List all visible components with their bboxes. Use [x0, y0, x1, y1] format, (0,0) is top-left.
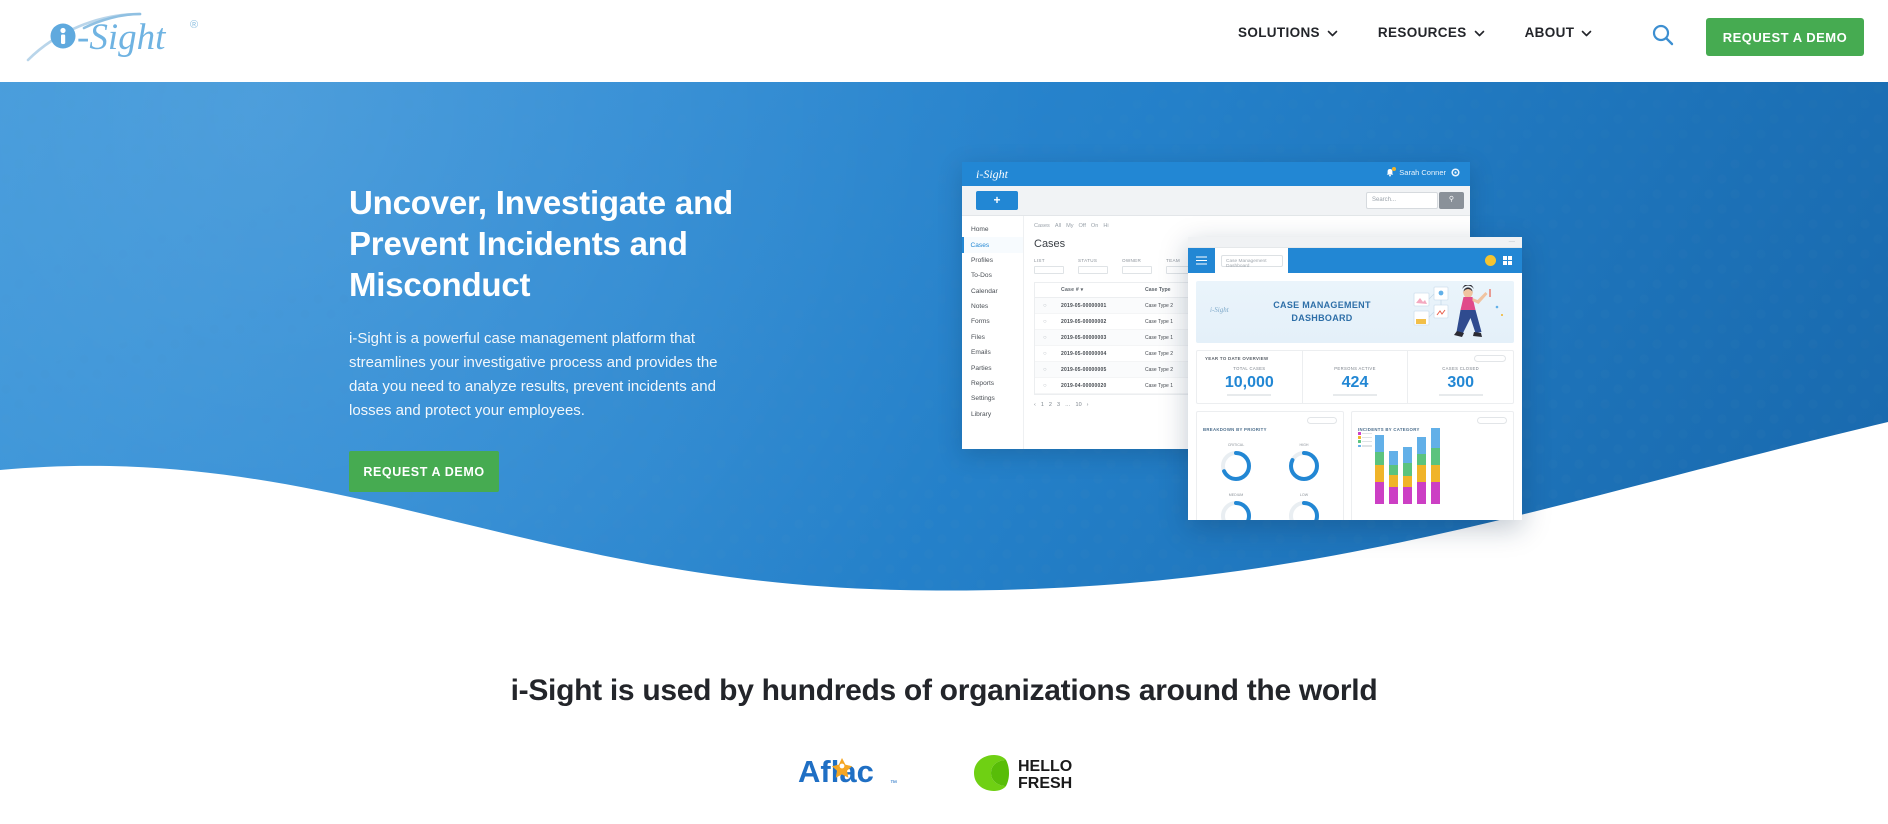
mockup-user-name: Sarah Conner — [1399, 168, 1446, 177]
request-demo-button-hero[interactable]: REQUEST A DEMO — [349, 451, 499, 492]
bar-mar — [1403, 447, 1412, 504]
cell-case-number: 2019-05-00000005 — [1061, 367, 1139, 373]
chevron-down-icon — [1327, 28, 1338, 39]
stat-persons-active: PERSONS ACTIVE 424 — [1303, 351, 1409, 403]
stat-label: CASES CLOSED — [1408, 366, 1513, 371]
request-demo-button-header[interactable]: REQUEST A DEMO — [1706, 18, 1864, 56]
client-logo-row: Aflac ™ HELLO FRESH — [0, 750, 1888, 796]
panel-legend-pill[interactable] — [1307, 417, 1337, 424]
row-checkbox[interactable]: ○ — [1043, 303, 1055, 309]
cell-case-number: 2019-05-00000003 — [1061, 335, 1139, 341]
filter-label: STATUS — [1078, 258, 1108, 263]
mockup-dashboard-topbar: Case Management Dashboard — [1188, 248, 1522, 273]
breadcrumb-item[interactable]: On — [1091, 223, 1098, 229]
sidebar-item-home[interactable]: Home — [962, 222, 1023, 237]
cell-case-number: 2019-05-00000002 — [1061, 319, 1139, 325]
client-logo-hellofresh: HELLO FRESH — [966, 750, 1090, 796]
bar-jan — [1375, 435, 1384, 504]
row-checkbox[interactable]: ○ — [1043, 335, 1055, 341]
sidebar-item-reports[interactable]: Reports — [962, 376, 1023, 391]
mockup-toolbar: + Search... ⚲ — [962, 186, 1470, 216]
stat-value: 10,000 — [1197, 373, 1302, 392]
pagination-page[interactable]: 3 — [1057, 402, 1060, 408]
stacked-bar-chart — [1358, 444, 1507, 504]
donut-critical: CRITICAL — [1203, 443, 1269, 489]
filter-label: OWNER — [1122, 258, 1152, 263]
mockup-sidebar: Home Cases Profiles To-Dos Calendar Note… — [962, 216, 1024, 449]
donut-label: CRITICAL — [1203, 443, 1269, 447]
client-logo-aflac: Aflac ™ — [798, 750, 904, 796]
sidebar-item-cases[interactable]: Cases — [962, 237, 1023, 252]
coin-icon[interactable] — [1485, 255, 1496, 266]
sidebar-item-calendar[interactable]: Calendar — [962, 284, 1023, 299]
i-sight-logo-icon: -Sight ® — [22, 8, 232, 70]
panel-filter-pill[interactable] — [1477, 417, 1507, 424]
donut-chart-icon — [1218, 498, 1254, 520]
breadcrumb-item[interactable]: My — [1066, 223, 1073, 229]
filter-list[interactable]: LIST — [1034, 258, 1064, 274]
hamburger-menu-icon[interactable] — [1188, 248, 1215, 273]
row-checkbox[interactable]: ○ — [1043, 319, 1055, 325]
sidebar-item-library[interactable]: Library — [962, 407, 1023, 422]
nav-item-label: RESOURCES — [1378, 25, 1467, 40]
svg-text:Aflac: Aflac — [798, 754, 874, 789]
stat-label: PERSONS ACTIVE — [1303, 366, 1408, 371]
donut-chart-grid: CRITICAL HIGH — [1203, 443, 1337, 520]
filter-owner[interactable]: OWNER — [1122, 258, 1152, 274]
grid-icon[interactable] — [1503, 256, 1512, 265]
donut-label: MEDIUM — [1203, 493, 1269, 497]
donut-chart-icon — [1286, 498, 1322, 520]
pagination-prev[interactable]: ‹ — [1034, 402, 1036, 408]
nav-item-about[interactable]: ABOUT — [1525, 25, 1593, 40]
hero-section: Uncover, Investigate and Prevent Inciden… — [0, 82, 1888, 602]
search-icon[interactable]: ⚲ — [1439, 192, 1464, 209]
gear-icon — [1451, 168, 1460, 177]
stat-value: 300 — [1408, 373, 1513, 392]
dashboard-banner: i-Sight CASE MANAGEMENT DASHBOARD — [1196, 281, 1514, 343]
sidebar-item-files[interactable]: Files — [962, 330, 1023, 345]
priority-breakdown-panel: BREAKDOWN BY PRIORITY CRITICAL — [1196, 411, 1344, 520]
dashboard-stats-card: YEAR TO DATE OVERVIEW TOTAL CASES 10,000… — [1196, 350, 1514, 404]
mockup-new-case-button[interactable]: + — [976, 191, 1018, 210]
nav-item-label: SOLUTIONS — [1238, 25, 1320, 40]
sidebar-item-emails[interactable]: Emails — [962, 345, 1023, 360]
incidents-by-category-panel: INCIDENTS BY CATEGORY — [1351, 411, 1514, 520]
cell-case-number: 2019-05-00000001 — [1061, 303, 1139, 309]
site-header: -Sight ® SOLUTIONS RESOURCES ABOUT — [0, 0, 1888, 82]
mockup-user-area: Sarah Conner — [1386, 168, 1460, 177]
pagination-page[interactable]: 10 — [1076, 402, 1082, 408]
stat-cases-closed: CASES CLOSED 300 — [1408, 351, 1513, 403]
filter-status[interactable]: STATUS — [1078, 258, 1108, 274]
clients-title: i-Sight is used by hundreds of organizat… — [0, 674, 1888, 708]
hero-wave-divider — [0, 414, 1888, 602]
sidebar-item-settings[interactable]: Settings — [962, 391, 1023, 406]
pagination-page[interactable]: 1 — [1041, 402, 1044, 408]
svg-text:-Sight: -Sight — [77, 17, 167, 58]
mockup-app-logo: i-Sight — [1210, 306, 1229, 314]
mockup-app-topbar: i-Sight Sarah Conner — [962, 162, 1470, 186]
donut-chart-icon — [1218, 448, 1254, 484]
breadcrumb-item[interactable]: Cases — [1034, 223, 1050, 229]
aflac-logo-icon: Aflac ™ — [798, 752, 904, 794]
row-checkbox[interactable]: ○ — [1043, 367, 1055, 373]
nav-item-resources[interactable]: RESOURCES — [1378, 25, 1485, 40]
hellofresh-logo-icon: HELLO FRESH — [966, 751, 1090, 795]
clients-section: i-Sight is used by hundreds of organizat… — [0, 602, 1888, 824]
row-checkbox[interactable]: ○ — [1043, 383, 1055, 389]
donut-label: HIGH — [1271, 443, 1337, 447]
dashboard-actions — [1288, 248, 1522, 273]
hero-copy: Uncover, Investigate and Prevent Inciden… — [349, 182, 749, 492]
pagination-ellipsis: … — [1065, 402, 1071, 408]
mockup-window-label: ── — [1509, 239, 1515, 244]
mockup-dashboard-window: ── Case Management Dashboard i-Sight CAS… — [1188, 237, 1522, 520]
bar-feb — [1389, 451, 1398, 504]
stat-label: TOTAL CASES — [1197, 366, 1302, 371]
dashboard-title: CASE MANAGEMENT DASHBOARD — [1262, 299, 1382, 325]
sidebar-item-forms[interactable]: Forms — [962, 314, 1023, 329]
donut-medium: MEDIUM — [1203, 493, 1269, 520]
svg-text:®: ® — [190, 19, 198, 31]
cell-case-number: 2019-04-00000020 — [1061, 383, 1139, 389]
donut-low: LOW — [1271, 493, 1337, 520]
bar-may — [1431, 428, 1440, 504]
search-icon[interactable] — [1650, 22, 1676, 48]
hellofresh-line2: FRESH — [1018, 775, 1072, 792]
svg-text:™: ™ — [890, 780, 897, 787]
nav-item-solutions[interactable]: SOLUTIONS — [1238, 25, 1338, 40]
site-logo[interactable]: -Sight ® — [22, 8, 232, 70]
pagination-page[interactable]: 2 — [1049, 402, 1052, 408]
mockup-app-logo: i-Sight — [976, 167, 1008, 182]
pagination-next[interactable]: › — [1087, 402, 1089, 408]
main-navigation: SOLUTIONS RESOURCES ABOUT — [1238, 25, 1592, 40]
breadcrumb: Cases All My Off On Hi — [1034, 223, 1461, 229]
mockup-window-chrome: ── — [1188, 237, 1522, 248]
sidebar-item-todos[interactable]: To-Dos — [962, 268, 1023, 283]
dashboard-illustration — [1412, 285, 1508, 341]
breadcrumb-item[interactable]: Off — [1079, 223, 1086, 229]
donut-chart-icon — [1286, 448, 1322, 484]
hero-subtitle: i-Sight is a powerful case management pl… — [349, 327, 724, 423]
chevron-down-icon — [1474, 28, 1485, 39]
breadcrumb-item[interactable]: Hi — [1103, 223, 1108, 229]
hero-title: Uncover, Investigate and Prevent Inciden… — [349, 182, 749, 305]
hellofresh-line1: HELLO — [1018, 758, 1072, 775]
stat-value: 424 — [1303, 373, 1408, 392]
nav-item-label: ABOUT — [1525, 25, 1575, 40]
donut-high: HIGH — [1271, 443, 1337, 489]
bar-apr — [1417, 437, 1426, 504]
dashboard-select[interactable]: Case Management Dashboard — [1221, 255, 1283, 267]
sidebar-item-notes[interactable]: Notes — [962, 299, 1023, 314]
notification-bell-icon — [1386, 168, 1394, 177]
filter-label: LIST — [1034, 258, 1064, 263]
donut-label: LOW — [1271, 493, 1337, 497]
mockup-search-input[interactable]: Search... — [1366, 192, 1438, 209]
sidebar-item-profiles[interactable]: Profiles — [962, 253, 1023, 268]
breadcrumb-item[interactable]: All — [1055, 223, 1061, 229]
cell-case-number: 2019-05-00000004 — [1061, 351, 1139, 357]
stat-total-cases: TOTAL CASES 10,000 — [1197, 351, 1303, 403]
product-screenshot-mockup: i-Sight Sarah Conner + Search... ⚲ — [962, 162, 1522, 522]
column-header-case-number[interactable]: Case # ▾ — [1061, 287, 1139, 293]
panel-title: BREAKDOWN BY PRIORITY — [1203, 427, 1267, 432]
row-checkbox[interactable]: ○ — [1043, 351, 1055, 357]
chevron-down-icon — [1581, 28, 1592, 39]
sidebar-item-parties[interactable]: Parties — [962, 360, 1023, 375]
chart-legend — [1358, 432, 1372, 447]
